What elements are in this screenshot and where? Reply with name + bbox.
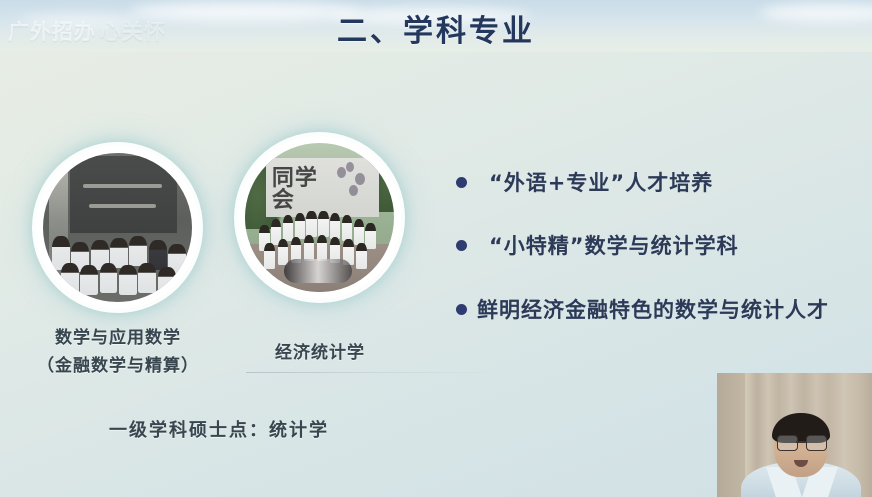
- wall-left: [717, 373, 745, 497]
- caption-masters-program: 一级学科硕士点：统计学: [74, 416, 364, 442]
- bullet-item-finance-talent: 鲜明经济金融特色的数学与统计人才: [456, 294, 829, 324]
- caption-line-primary: 数学与应用数学: [0, 324, 236, 352]
- caption-divider-line: [246, 372, 502, 373]
- bullet-text: “小特精”数学与统计学科: [489, 230, 739, 260]
- glasses-bridge-icon: [796, 441, 806, 443]
- bullet-text: 鲜明经济金融特色的数学与统计人才: [477, 294, 829, 324]
- presentation-slide: 广外招办心关怀 二、学科专业: [0, 0, 872, 497]
- glasses-lens-left-icon: [777, 435, 798, 451]
- photo-inner-mask: [43, 153, 192, 302]
- caption-economic-statistics: 经济统计学: [238, 338, 402, 363]
- bullet-text: “外语+专业”人才培养: [489, 167, 713, 197]
- glasses-lens-right-icon: [806, 435, 827, 451]
- caption-math-and-applied-math: 数学与应用数学 （金融数学与精算）: [0, 324, 236, 380]
- banner-text: 同学会: [272, 168, 341, 201]
- math-and-applied-math-photo: [36, 146, 199, 309]
- screen-text-line: [89, 204, 156, 208]
- presenter-webcam[interactable]: [717, 373, 872, 497]
- front-row-lying-group: [284, 259, 353, 283]
- projector-screen: [70, 156, 177, 233]
- page-title: 二、学科专业: [0, 6, 872, 50]
- economic-statistics-photo: 同学会: [238, 136, 401, 299]
- photo-inner-mask: 同学会: [245, 143, 394, 292]
- caption-line-secondary: （金融数学与精算）: [0, 352, 236, 380]
- screen-text-line: [83, 184, 162, 188]
- bullet-dot-icon: [456, 240, 467, 251]
- bullet-dot-icon: [456, 304, 467, 315]
- bullet-dot-icon: [456, 177, 467, 188]
- bullet-item-talent-training: “外语+专业”人才培养: [456, 167, 713, 197]
- bullet-item-discipline-feature: “小特精”数学与统计学科: [456, 230, 739, 260]
